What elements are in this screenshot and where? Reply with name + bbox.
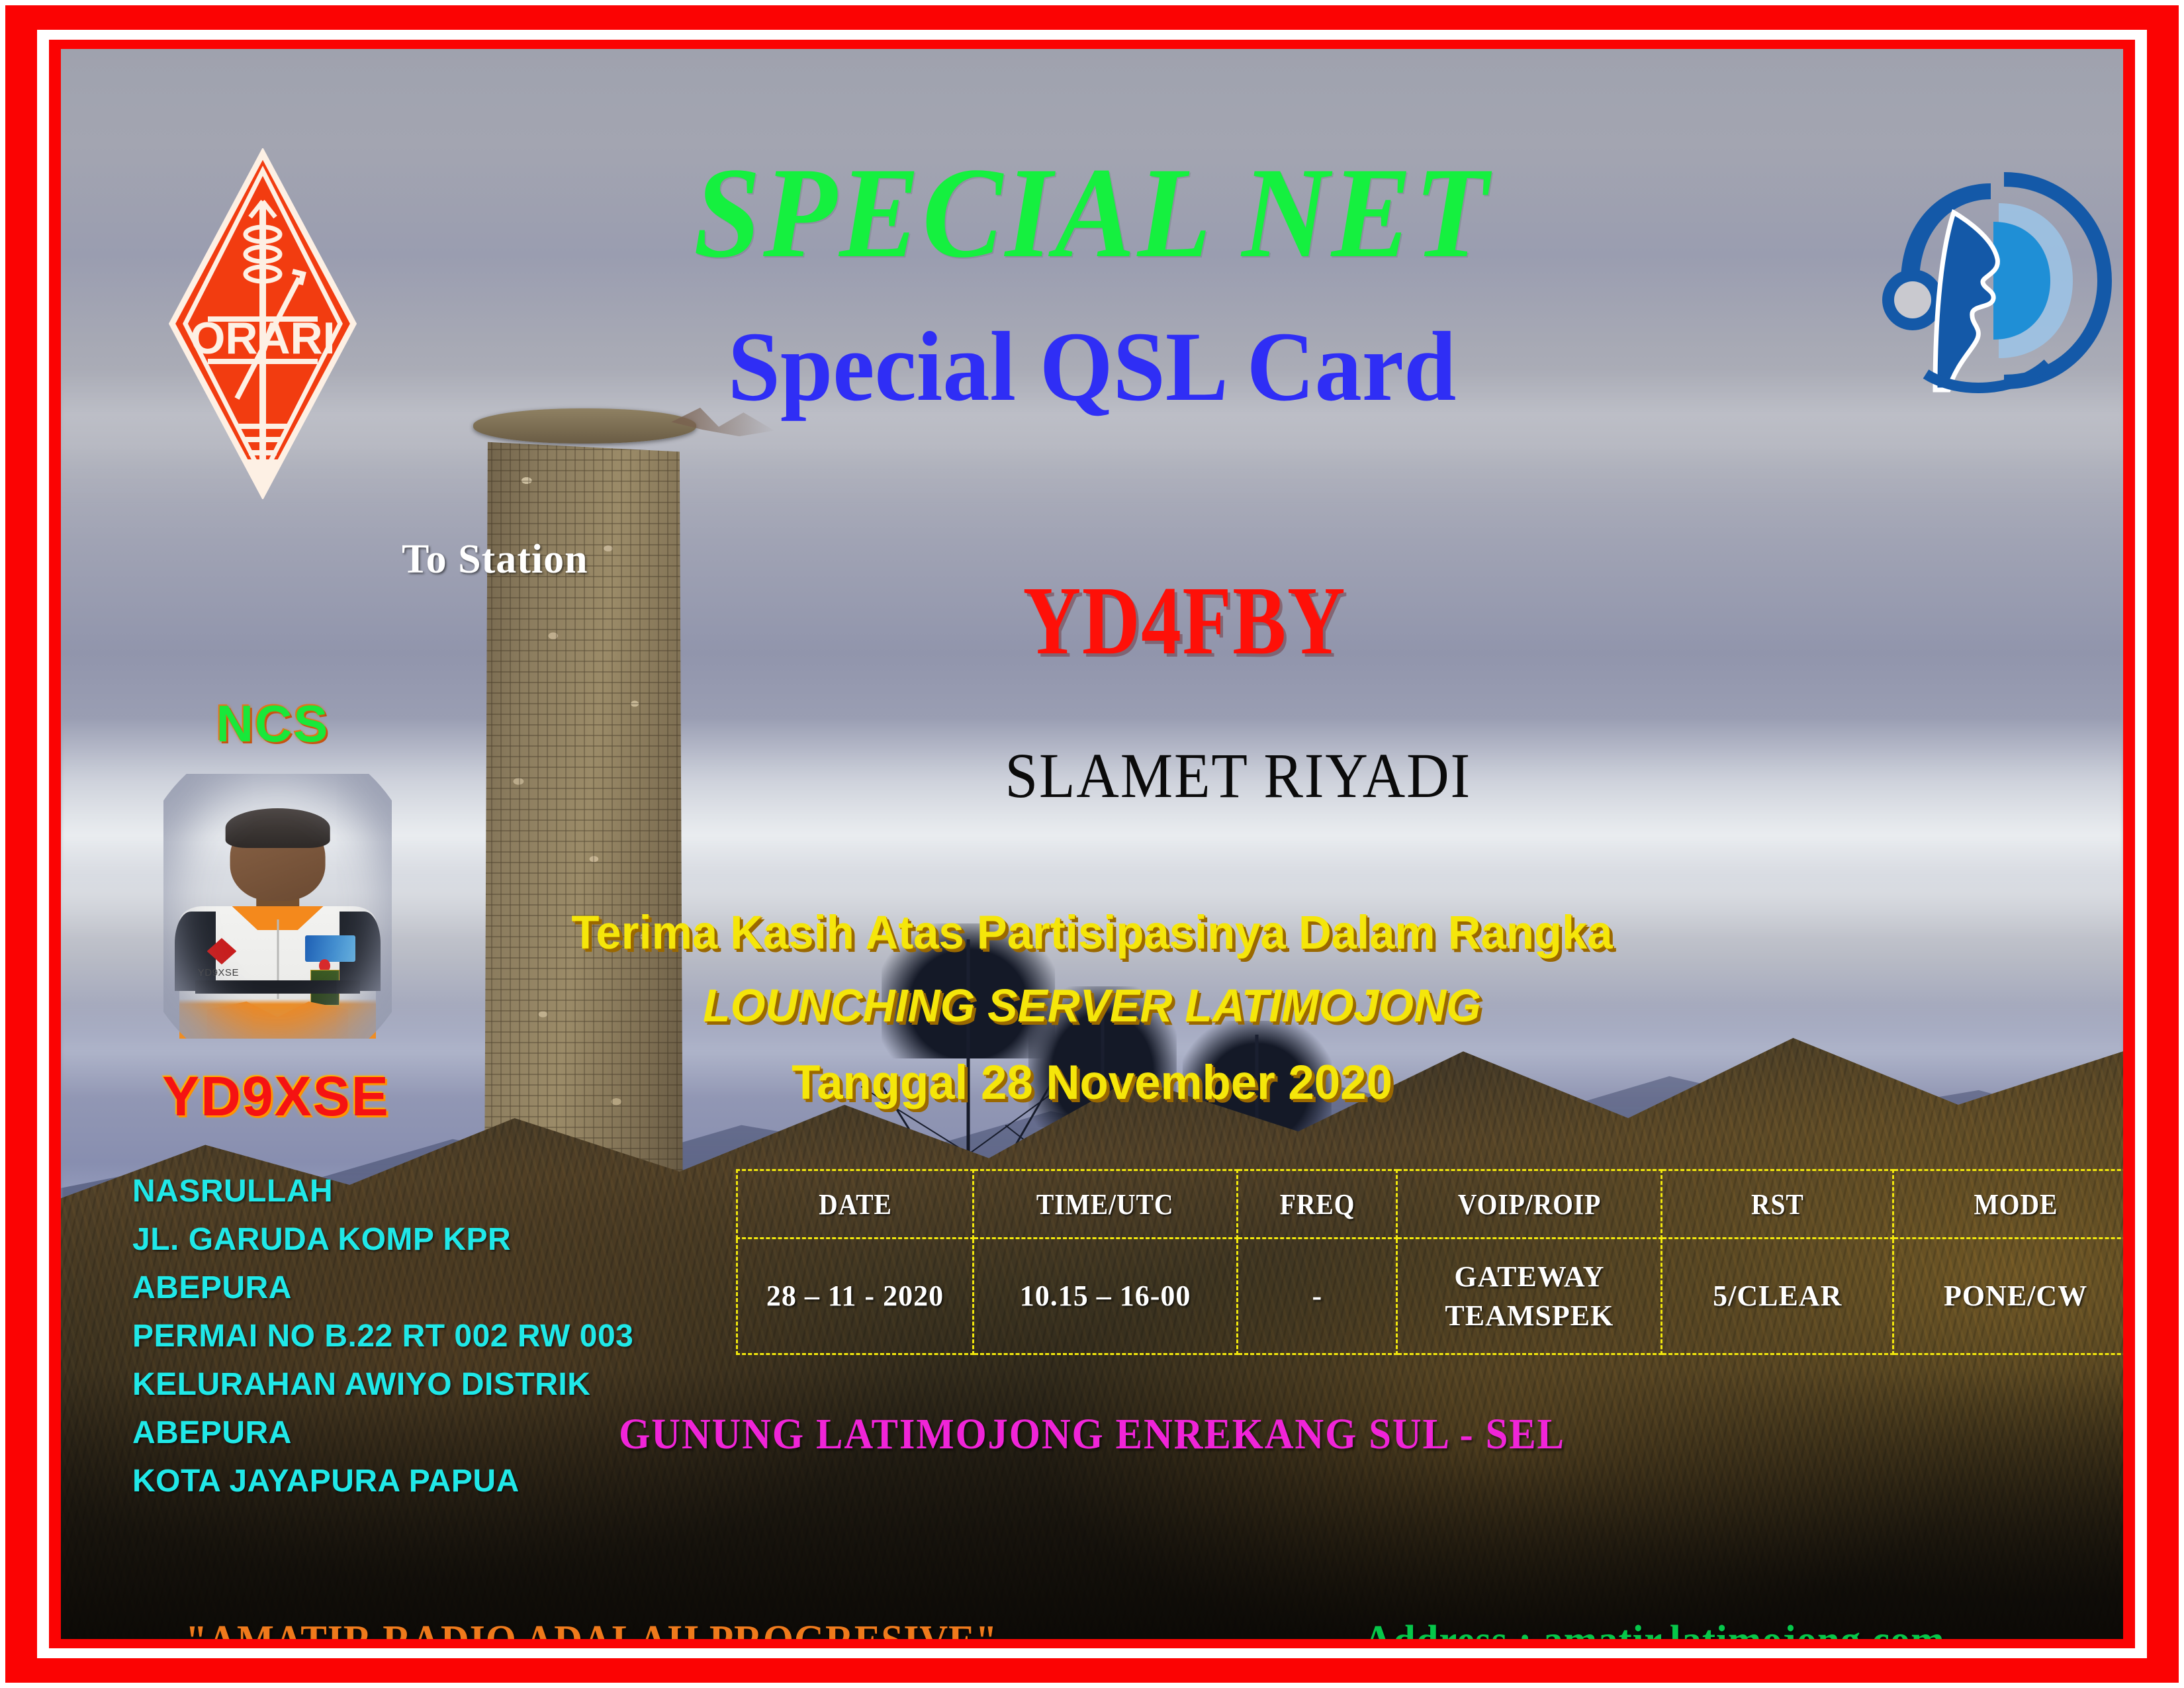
page-title: SPECIAL NET xyxy=(133,148,2051,278)
address-line: NASRULLAH xyxy=(132,1168,633,1216)
cell-voip-roip-line1: GATEWAY xyxy=(1398,1257,1660,1296)
address-line: KELURAHAN AWIYO DISTRIK xyxy=(132,1361,633,1409)
footer-address: Address : amatir.latimojong.com xyxy=(1363,1619,1945,1639)
address-line: KOTA JAYAPURA PAPUA xyxy=(132,1458,633,1506)
ncs-label: NCS xyxy=(154,698,392,749)
address-line: ABEPURA xyxy=(132,1264,633,1313)
column-header-time: TIME/UTC xyxy=(986,1170,1224,1239)
address-line: JL. GARUDA KOMP KPR xyxy=(132,1216,633,1264)
table-header-row: DATE TIME/UTC FREQ VOIP/ROIP RST MODE xyxy=(737,1170,2124,1239)
cell-mode: PONE/CW xyxy=(1893,1239,2123,1354)
qso-log-table: DATE TIME/UTC FREQ VOIP/ROIP RST MODE 28… xyxy=(736,1169,2123,1355)
cell-rst: 5/CLEAR xyxy=(1662,1239,1893,1354)
background-photograph: ORARI SPECIAL NET Special QSL Card To St… xyxy=(61,49,2123,1639)
ncs-callsign: YD9XSE xyxy=(134,1068,418,1124)
column-header-rst: RST xyxy=(1673,1170,1882,1239)
qsl-card: ORARI SPECIAL NET Special QSL Card To St… xyxy=(0,0,2184,1688)
column-header-voip-roip: VOIP/ROIP xyxy=(1410,1170,1649,1239)
location-label: GUNUNG LATIMOJONG ENREKANG SUL - SEL xyxy=(144,1413,2041,1456)
cell-time: 10.15 – 16-00 xyxy=(973,1239,1237,1354)
column-header-freq: FREQ xyxy=(1246,1170,1389,1239)
column-header-mode: MODE xyxy=(1905,1170,2123,1239)
column-header-date: DATE xyxy=(749,1170,961,1239)
cell-voip-roip-line2: TEAMSPEK xyxy=(1398,1296,1660,1335)
footer-motto: "AMATIR RADIO ADALAH PROGRESIVE" xyxy=(185,1619,997,1639)
event-launch-line: LOUNCHING SERVER LATIMOJONG xyxy=(92,982,2093,1029)
to-station-label: To Station xyxy=(402,539,588,580)
operator-name: SLAMET RIYADI xyxy=(1005,744,1472,808)
cell-voip-roip: GATEWAY TEAMSPEK xyxy=(1397,1239,1662,1354)
cell-freq: - xyxy=(1238,1239,1397,1354)
address-line: PERMAI NO B.22 RT 002 RW 003 xyxy=(132,1313,633,1361)
table-row: 28 – 11 - 2020 10.15 – 16-00 - GATEWAY T… xyxy=(737,1239,2124,1354)
event-thanks-line: Terima Kasih Atas Partisipasinya Dalam R… xyxy=(92,910,2093,957)
ncs-operator-photo: YD9XSE xyxy=(163,774,392,1039)
station-callsign: YD4FBY xyxy=(1023,572,1347,670)
page-subtitle: Special QSL Card xyxy=(113,317,2071,416)
cell-date: 28 – 11 - 2020 xyxy=(737,1239,974,1354)
